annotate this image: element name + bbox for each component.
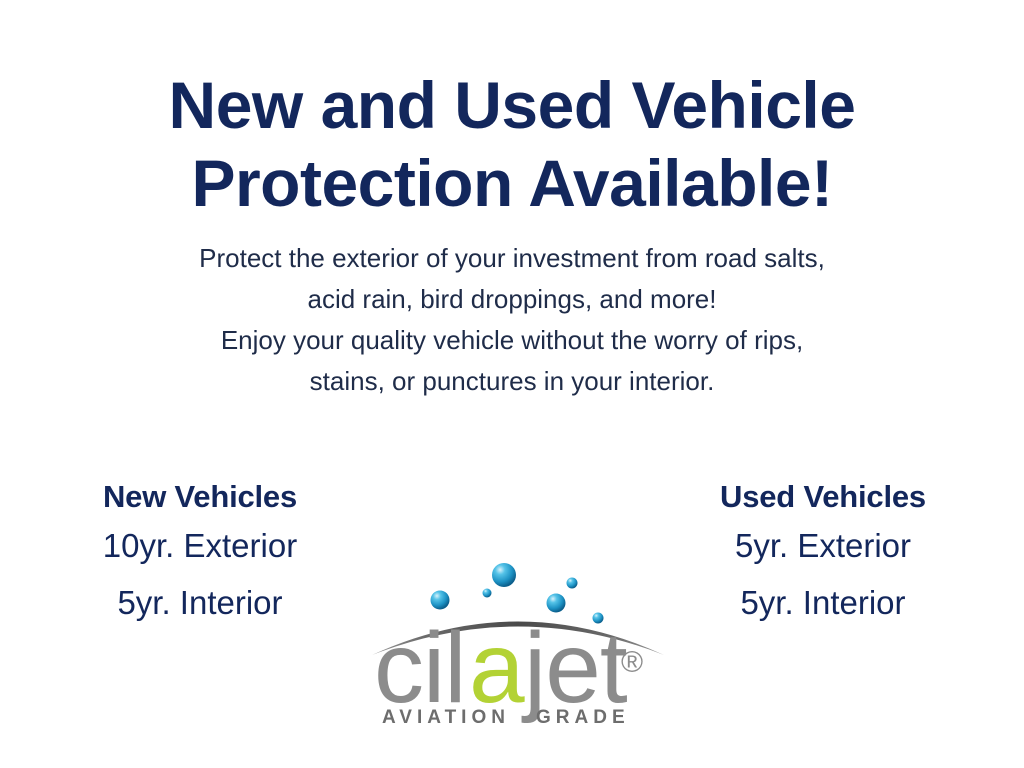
registered-trademark-icon: ® bbox=[621, 646, 643, 679]
bubble-large-top bbox=[492, 563, 516, 587]
subcopy-line-1: Protect the exterior of your investment … bbox=[0, 238, 1024, 279]
bubble-small-upper-right bbox=[567, 578, 578, 589]
offer-column-used-vehicles: Used Vehicles 5yr. Exterior 5yr. Interio… bbox=[653, 477, 993, 631]
tagline-aviation: AVIATION bbox=[382, 707, 510, 728]
slide-canvas: New and Used Vehicle Protection Availabl… bbox=[0, 0, 1024, 768]
bubble-large-right bbox=[547, 594, 566, 613]
bubble-small-upper-left bbox=[483, 589, 492, 598]
headline-line-1: New and Used Vehicle bbox=[0, 66, 1024, 144]
headline-line-2: Protection Available! bbox=[0, 144, 1024, 222]
cilajet-logo-graphic: cil a jet ® AVIATION GRADE bbox=[368, 550, 668, 735]
cilajet-logo: cil a jet ® AVIATION GRADE bbox=[368, 550, 668, 735]
bubble-large-left bbox=[431, 591, 450, 610]
used-vehicles-exterior-term: 5yr. Exterior bbox=[653, 517, 993, 574]
used-vehicles-interior-term: 5yr. Interior bbox=[653, 574, 993, 631]
tagline-grade: GRADE bbox=[536, 707, 630, 728]
subheading-paragraph: Protect the exterior of your investment … bbox=[0, 238, 1024, 402]
logo-tagline: AVIATION GRADE bbox=[382, 707, 630, 728]
subcopy-line-4: stains, or punctures in your interior. bbox=[0, 361, 1024, 402]
subcopy-line-3: Enjoy your quality vehicle without the w… bbox=[0, 320, 1024, 361]
new-vehicles-title: New Vehicles bbox=[30, 477, 370, 517]
page-title: New and Used Vehicle Protection Availabl… bbox=[0, 66, 1024, 222]
subcopy-line-2: acid rain, bird droppings, and more! bbox=[0, 279, 1024, 320]
used-vehicles-title: Used Vehicles bbox=[653, 477, 993, 517]
new-vehicles-exterior-term: 10yr. Exterior bbox=[30, 517, 370, 574]
new-vehicles-interior-term: 5yr. Interior bbox=[30, 574, 370, 631]
offer-column-new-vehicles: New Vehicles 10yr. Exterior 5yr. Interio… bbox=[30, 477, 370, 631]
